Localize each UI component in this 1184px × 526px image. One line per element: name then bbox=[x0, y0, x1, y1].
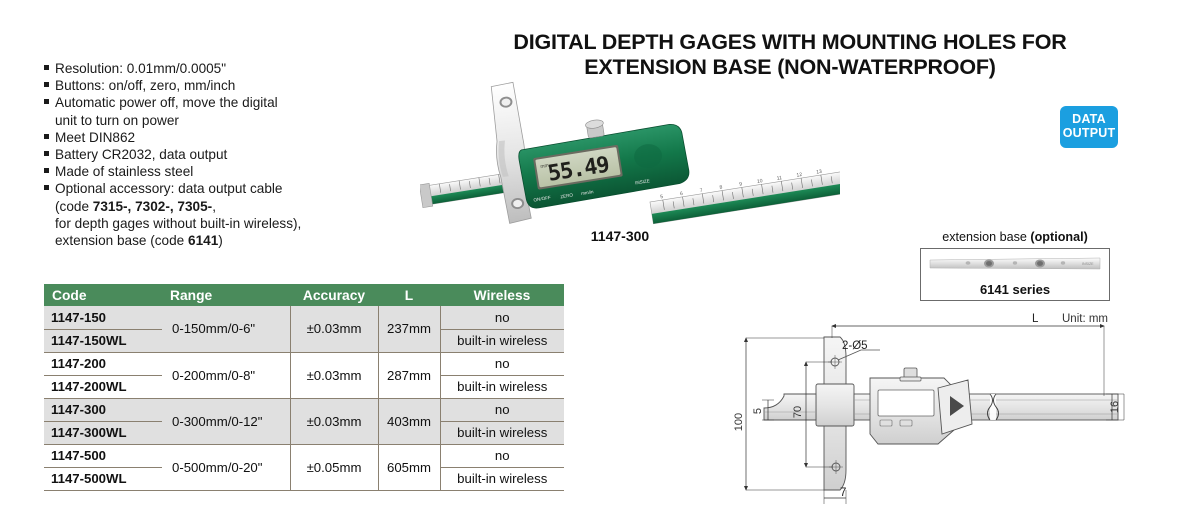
extension-base-label-optional: (optional) bbox=[1030, 230, 1087, 244]
cell-code: 1147-150WL bbox=[44, 329, 162, 352]
svg-text:INSIZE: INSIZE bbox=[1082, 262, 1094, 266]
list-item: Meet DIN862 bbox=[44, 129, 394, 146]
extension-base-code: 6141 bbox=[188, 233, 218, 248]
svg-text:6: 6 bbox=[680, 191, 684, 197]
cell-code: 1147-200 bbox=[44, 352, 162, 375]
extension-base-photo: INSIZE bbox=[927, 254, 1103, 279]
feature-optional-line-a: (code 7315-, 7302-, 7305-, bbox=[44, 198, 394, 215]
product-photo-digital-depth-gage: 55.49 mm ON/OFF ZERO mm/in INSIZE 567 bbox=[420, 80, 840, 230]
list-item: Made of stainless steel bbox=[44, 163, 394, 180]
extension-base-label-plain: extension base bbox=[942, 230, 1030, 244]
table-row: 1147-500 0-500mm/0-20" ±0.05mm 605mm no bbox=[44, 444, 564, 467]
extension-base-box: INSIZE 6141 series bbox=[920, 248, 1110, 301]
table-header-row: Code Range Accuracy L Wireless bbox=[44, 284, 564, 306]
page-title-line-1: DIGITAL DEPTH GAGES WITH MOUNTING HOLES … bbox=[430, 30, 1150, 55]
feature-text: Made of stainless steel bbox=[55, 163, 394, 180]
cell-code: 1147-500 bbox=[44, 444, 162, 467]
dim-label-L: L bbox=[1032, 313, 1039, 325]
dim-label-5: 5 bbox=[752, 408, 764, 414]
cell-code: 1147-200WL bbox=[44, 375, 162, 398]
cell-length: 237mm bbox=[378, 306, 440, 352]
technical-drawing: 2-Ø5 L 100 5 70 7 16 bbox=[728, 312, 1148, 512]
cell-length: 605mm bbox=[378, 444, 440, 490]
column-header-wireless: Wireless bbox=[440, 284, 564, 306]
cell-wireless: built-in wireless bbox=[440, 467, 564, 490]
product-caption: 1147-300 bbox=[520, 228, 720, 244]
dim-label-7: 7 bbox=[840, 487, 846, 499]
list-item: Buttons: on/off, zero, mm/inch bbox=[44, 77, 394, 94]
svg-text:7: 7 bbox=[699, 188, 703, 194]
cell-wireless: no bbox=[440, 306, 564, 329]
optional-codes: 7315-, 7302-, 7305- bbox=[93, 199, 212, 214]
cell-length: 403mm bbox=[378, 398, 440, 444]
feature-text: Battery CR2032, data output bbox=[55, 146, 394, 163]
bullet-square-icon bbox=[44, 146, 55, 156]
cell-code: 1147-300 bbox=[44, 398, 162, 421]
feature-text: Resolution: 0.01mm/0.0005" bbox=[55, 60, 394, 77]
bullet-square-icon bbox=[44, 163, 55, 173]
column-header-accuracy: Accuracy bbox=[290, 284, 378, 306]
cell-code: 1147-500WL bbox=[44, 467, 162, 490]
cell-wireless: built-in wireless bbox=[440, 375, 564, 398]
specification-table: Code Range Accuracy L Wireless 1147-150 … bbox=[44, 284, 564, 491]
column-header-length: L bbox=[378, 284, 440, 306]
page-title: DIGITAL DEPTH GAGES WITH MOUNTING HOLES … bbox=[430, 30, 1150, 80]
bullet-square-icon bbox=[44, 94, 55, 104]
feature-list: Resolution: 0.01mm/0.0005" Buttons: on/o… bbox=[44, 60, 394, 249]
badge-line-2: OUTPUT bbox=[1060, 127, 1118, 141]
optional-suffix: , bbox=[212, 199, 216, 214]
cell-wireless: no bbox=[440, 444, 564, 467]
table-row: 1147-300 0-300mm/0-12" ±0.03mm 403mm no bbox=[44, 398, 564, 421]
dim-label-holes: 2-Ø5 bbox=[842, 340, 868, 352]
svg-text:11: 11 bbox=[776, 175, 782, 182]
svg-text:10: 10 bbox=[757, 178, 764, 185]
list-item: Optional accessory: data output cable bbox=[44, 180, 394, 197]
list-item: Automatic power off, move the digital bbox=[44, 94, 394, 111]
feature-text: Automatic power off, move the digital bbox=[55, 94, 394, 111]
cell-wireless: built-in wireless bbox=[440, 329, 564, 352]
extension-base-label: extension base (optional) bbox=[920, 230, 1110, 244]
svg-text:9: 9 bbox=[739, 181, 743, 187]
cell-code: 1147-150 bbox=[44, 306, 162, 329]
feature-text-continuation: unit to turn on power bbox=[44, 112, 394, 129]
page-title-line-2: EXTENSION BASE (NON-WATERPROOF) bbox=[430, 55, 1150, 80]
table-row: 1147-150 0-150mm/0-6" ±0.03mm 237mm no bbox=[44, 306, 564, 329]
svg-text:8: 8 bbox=[719, 185, 723, 191]
cell-range: 0-150mm/0-6" bbox=[162, 306, 290, 352]
feature-text: Optional accessory: data output cable bbox=[55, 180, 394, 197]
list-item: Resolution: 0.01mm/0.0005" bbox=[44, 60, 394, 77]
cell-accuracy: ±0.03mm bbox=[290, 352, 378, 398]
bullet-square-icon bbox=[44, 60, 55, 70]
feature-optional-line-c: extension base (code 6141) bbox=[44, 232, 394, 249]
cell-range: 0-200mm/0-8" bbox=[162, 352, 290, 398]
cell-range: 0-500mm/0-20" bbox=[162, 444, 290, 490]
cell-accuracy: ±0.03mm bbox=[290, 398, 378, 444]
extension-base-block: extension base (optional) bbox=[920, 230, 1110, 301]
cell-accuracy: ±0.05mm bbox=[290, 444, 378, 490]
svg-text:5: 5 bbox=[660, 194, 664, 200]
data-output-badge: DATA OUTPUT bbox=[1060, 106, 1118, 148]
cell-wireless: built-in wireless bbox=[440, 421, 564, 444]
badge-line-1: DATA bbox=[1060, 113, 1118, 127]
svg-text:12: 12 bbox=[796, 172, 803, 179]
extension-base-prefix: extension base (code bbox=[55, 233, 188, 248]
extension-base-series: 6141 series bbox=[927, 282, 1103, 297]
column-header-code: Code bbox=[44, 284, 162, 306]
feature-text: Buttons: on/off, zero, mm/inch bbox=[55, 77, 394, 94]
bullet-square-icon bbox=[44, 129, 55, 139]
dim-label-100: 100 bbox=[733, 413, 745, 431]
table-row: 1147-200 0-200mm/0-8" ±0.03mm 287mm no bbox=[44, 352, 564, 375]
column-header-range: Range bbox=[162, 284, 290, 306]
optional-prefix: (code bbox=[55, 199, 93, 214]
cell-wireless: no bbox=[440, 352, 564, 375]
bullet-square-icon bbox=[44, 180, 55, 190]
svg-text:13: 13 bbox=[816, 169, 823, 176]
bullet-square-icon bbox=[44, 77, 55, 87]
cell-wireless: no bbox=[440, 398, 564, 421]
cell-range: 0-300mm/0-12" bbox=[162, 398, 290, 444]
dim-label-16: 16 bbox=[1109, 401, 1121, 413]
feature-optional-line-b: for depth gages without built-in wireles… bbox=[44, 215, 394, 232]
feature-text: Meet DIN862 bbox=[55, 129, 394, 146]
dim-label-70: 70 bbox=[792, 406, 804, 418]
table-body: 1147-150 0-150mm/0-6" ±0.03mm 237mm no 1… bbox=[44, 306, 564, 490]
list-item: Battery CR2032, data output bbox=[44, 146, 394, 163]
cell-length: 287mm bbox=[378, 352, 440, 398]
cell-code: 1147-300WL bbox=[44, 421, 162, 444]
cell-accuracy: ±0.03mm bbox=[290, 306, 378, 352]
extension-base-suffix: ) bbox=[218, 233, 223, 248]
